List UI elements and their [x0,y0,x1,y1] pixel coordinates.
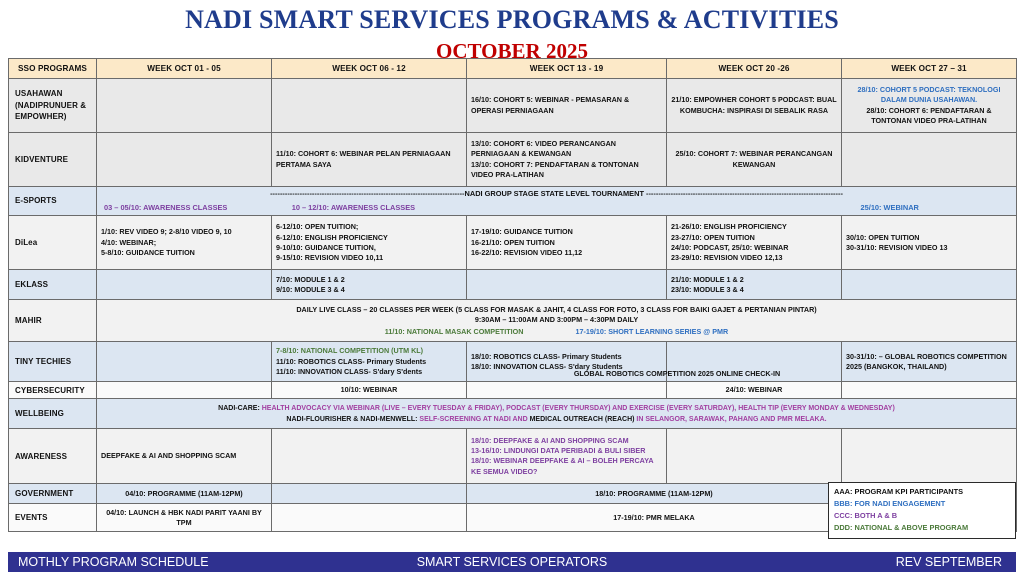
footer-bar: MOTHLY PROGRAM SCHEDULE SMART SERVICES O… [8,552,1016,572]
row-label-government: GOVERNMENT [9,484,97,504]
cell-dilea-w3: 17-19/10: GUIDANCE TUITION 16-21/10: OPE… [467,216,667,270]
cell-dilea-w2: 6-12/10: OPEN TUITION; 6-12/10: ENGLISH … [272,216,467,270]
footer-right-label: REV SEPTEMBER [896,555,1002,569]
cell-kidventure-w3: 13/10: COHORT 6: VIDEO PERANCANGAN PERNI… [467,133,667,187]
legend-text-bbb: FOR NADI ENGAGEMENT [852,499,945,508]
cell-eklass-w2: 7/10: MODULE 1 & 2 9/10: MODULE 3 & 4 [272,270,467,300]
legend-item-ccc: CCC: BOTH A & B [834,510,1010,522]
cell-tinytechies-w1 [97,342,272,382]
table-row-awareness: AWARENESS DEEPFAKE & AI AND SHOPPING SCA… [9,429,1017,484]
row-label-eklass: EKLASS [9,270,97,300]
legend-box: AAA: PROGRAM KPI PARTICIPANTS BBB: FOR N… [828,482,1016,539]
cell-eklass-w3 [467,270,667,300]
cell-usahawan-w2 [272,79,467,133]
cell-dilea-w4: 21-26/10: ENGLISH PROFICIENCY 23-27/10: … [667,216,842,270]
cell-kidventure-w5 [842,133,1017,187]
legend-item-ddd: DDD: NATIONAL & ABOVE PROGRAM [834,522,1010,534]
column-header-week2: WEEK OCT 06 - 12 [272,59,467,79]
cell-kidventure-w3-line2: 13/10: COHORT 7: PENDAFTARAN & TONTONAN … [471,160,662,181]
esports-item-3: 25/10: WEBINAR [766,203,1013,214]
footer-left-label: MOTHLY PROGRAM SCHEDULE [18,555,209,569]
esports-tournament-banner: ----------------------------------------… [100,189,1013,200]
cell-tinytechies-w2: 7-8/10: NATIONAL COMPETITION (UTM KL) 11… [272,342,467,382]
table-row-kidventure: KIDVENTURE 11/10: COHORT 6: WEBINAR PELA… [9,133,1017,187]
row-label-dilea: DiLea [9,216,97,270]
awareness-w3-line2: 13-16/10: LINDUNGI DATA PERIBADI & BULI … [471,446,662,456]
wellbeing-nadicare-label: NADI-CARE: [218,405,260,412]
mahir-masak-competition: 11/10: NATIONAL MASAK COMPETITION [385,327,524,337]
wellbeing-line-2: NADI-FLOURISHER & NADI-MENWELL: SELF-SCR… [101,414,1012,425]
header-row: SSO PROGRAMS WEEK OCT 01 - 05 WEEK OCT 0… [9,59,1017,79]
mahir-line-3: 11/10: NATIONAL MASAK COMPETITION 17-19/… [101,327,1012,337]
legend-code-ccc: CCC: [834,511,852,520]
row-label-tiny-techies: TINY TECHIES [9,342,97,382]
tinytechies-global-checkin: GLOBAL ROBOTICS COMPETITION 2025 ONLINE … [512,369,842,379]
wellbeing-locations-text: IN SELANGOR, SARAWAK, PAHANG AND PMR MEL… [634,416,826,423]
cell-events-w2 [272,504,467,532]
column-header-programs: SSO PROGRAMS [9,59,97,79]
tinytechies-w2-line1: 7-8/10: NATIONAL COMPETITION (UTM KL) [276,346,462,356]
tinytechies-w2-line2: 11/10: ROBOTICS CLASS- Primary Students [276,357,462,367]
legend-code-bbb: BBB: [834,499,852,508]
table-row-wellbeing: WELLBEING NADI-CARE: HEALTH ADVOCACY VIA… [9,399,1017,429]
legend-text-aaa: PROGRAM KPI PARTICIPANTS [852,487,963,496]
cell-government-w1: 04/10: PROGRAMME (11AM-12PM) [97,484,272,504]
cell-kidventure-w4: 25/10: COHORT 7: WEBINAR PERANCANGAN KEW… [667,133,842,187]
row-label-esports: E-SPORTS [9,187,97,216]
cell-awareness-w1: DEEPFAKE & AI AND SHOPPING SCAM [97,429,272,484]
cell-usahawan-w4: 21/10: EMPOWHER COHORT 5 PODCAST: BUAL K… [667,79,842,133]
cell-usahawan-w1 [97,79,272,133]
wellbeing-outreach-label: MEDICAL OUTREACH (REACH) [530,416,635,423]
page-title: NADI SMART SERVICES PROGRAMS & ACTIVITIE… [0,6,1024,35]
table-row-eklass: EKLASS 7/10: MODULE 1 & 2 9/10: MODULE 3… [9,270,1017,300]
tinytechies-w3-line1: 18/10: ROBOTICS CLASS- Primary Students [471,352,662,362]
wellbeing-selfscreening-text: SELF-SCREENING AT NADI AND [417,416,529,423]
cell-wellbeing-span: NADI-CARE: HEALTH ADVOCACY VIA WEBINAR (… [97,399,1017,429]
table-row-esports: E-SPORTS -------------------------------… [9,187,1017,216]
schedule-table: SSO PROGRAMS WEEK OCT 01 - 05 WEEK OCT 0… [8,58,1017,532]
legend-item-aaa: AAA: PROGRAM KPI PARTICIPANTS [834,486,1010,498]
table-body: USAHAWAN (NADIPRUNUER & EMPOWHER) 16/10:… [9,79,1017,532]
cell-cyber-w3 [467,382,667,399]
esports-item-1: 03 – 05/10: AWARENESS CLASSES [100,203,292,214]
cell-esports-span: ----------------------------------------… [97,187,1017,216]
cell-kidventure-w3-line1: 13/10: COHORT 6: VIDEO PERANCANGAN PERNI… [471,139,662,160]
mahir-short-learning-series: 17-19/10: SHORT LEARNING SERIES @ PMR [575,327,728,337]
cell-usahawan-w5: 28/10: COHORT 5 PODCAST: TEKNOLOGI DALAM… [842,79,1017,133]
mahir-line-2: 9:30AM – 11:00AM AND 3:00PM – 4:30PM DAI… [101,315,1012,325]
row-label-wellbeing: WELLBEING [9,399,97,429]
cell-dilea-w5: 30/10: OPEN TUITION 30-31/10: REVISION V… [842,216,1017,270]
cell-cyber-w2: 10/10: WEBINAR [272,382,467,399]
cell-events-w1: 04/10: LAUNCH & HBK NADI PARIT YAANI BY … [97,504,272,532]
awareness-w3-line3: 18/10: WEBINAR DEEPFAKE & AI – BOLEH PER… [471,456,662,477]
table-row-tiny-techies: TINY TECHIES 7-8/10: NATIONAL COMPETITIO… [9,342,1017,382]
cell-tinytechies-w5: 30-31/10: – GLOBAL ROBOTICS COMPETITION … [842,342,1017,382]
cell-awareness-w2 [272,429,467,484]
cell-kidventure-w1 [97,133,272,187]
column-header-week1: WEEK OCT 01 - 05 [97,59,272,79]
schedule-page: NADI SMART SERVICES PROGRAMS & ACTIVITIE… [0,0,1024,576]
row-label-awareness: AWARENESS [9,429,97,484]
cell-cyber-w5 [842,382,1017,399]
table-header: SSO PROGRAMS WEEK OCT 01 - 05 WEEK OCT 0… [9,59,1017,79]
cell-cyber-w4: 24/10: WEBINAR [667,382,842,399]
cell-eklass-w1 [97,270,272,300]
cell-usahawan-w3: 16/10: COHORT 5: WEBINAR - PEMASARAN & O… [467,79,667,133]
cell-tinytechies-w3: 18/10: ROBOTICS CLASS- Primary Students … [467,342,667,382]
esports-item-2: 10 – 12/10: AWARENESS CLASSES [292,203,520,214]
table-row-cybersecurity: CYBERSECURITY 10/10: WEBINAR 24/10: WEBI… [9,382,1017,399]
cell-eklass-w4: 21/10: MODULE 1 & 2 23/10: MODULE 3 & 4 [667,270,842,300]
cell-government-w2 [272,484,467,504]
row-label-cybersecurity: CYBERSECURITY [9,382,97,399]
column-header-week5: WEEK OCT 27 – 31 [842,59,1017,79]
cell-kidventure-w2: 11/10: COHORT 6: WEBINAR PELAN PERNIAGAA… [272,133,467,187]
wellbeing-line-1: NADI-CARE: HEALTH ADVOCACY VIA WEBINAR (… [101,403,1012,414]
esports-items: 03 – 05/10: AWARENESS CLASSES 10 – 12/10… [100,203,1013,214]
table-row-mahir: MAHIR DAILY LIVE CLASS – 20 CLASSES PER … [9,300,1017,342]
wellbeing-nadicare-text: HEALTH ADVOCACY VIA WEBINAR (LIVE – EVER… [260,405,895,412]
cell-awareness-w5 [842,429,1017,484]
row-label-mahir: MAHIR [9,300,97,342]
row-label-events: EVENTS [9,504,97,532]
cell-events-w34: 17-19/10: PMR MELAKA [467,504,842,532]
legend-code-ddd: DDD: [834,523,852,532]
cell-eklass-w5 [842,270,1017,300]
esports-spacer [520,203,767,214]
table-row-dilea: DiLea 1/10: REV VIDEO 9; 2-8/10 VIDEO 9,… [9,216,1017,270]
cell-mahir-span: DAILY LIVE CLASS – 20 CLASSES PER WEEK (… [97,300,1017,342]
cell-dilea-w1: 1/10: REV VIDEO 9; 2-8/10 VIDEO 9, 10 4/… [97,216,272,270]
column-header-week4: WEEK OCT 20 -26 [667,59,842,79]
awareness-w3-line1: 18/10: DEEPFAKE & AI AND SHOPPING SCAM [471,436,662,446]
cell-cyber-w1 [97,382,272,399]
cell-government-w34: 18/10: PROGRAMME (11AM-12PM) [467,484,842,504]
cell-awareness-w3: 18/10: DEEPFAKE & AI AND SHOPPING SCAM 1… [467,429,667,484]
cell-usahawan-w5-line2: 28/10: COHORT 6: PENDAFTARAN & TONTONAN … [846,106,1012,127]
cell-usahawan-w5-line1: 28/10: COHORT 5 PODCAST: TEKNOLOGI DALAM… [846,85,1012,106]
legend-item-bbb: BBB: FOR NADI ENGAGEMENT [834,498,1010,510]
wellbeing-flourisher-label: NADI-FLOURISHER & NADI-MENWELL: [286,416,417,423]
legend-text-ddd: NATIONAL & ABOVE PROGRAM [852,523,968,532]
tinytechies-w2-line3: 11/10: INNOVATION CLASS- S'dary S'dents [276,367,462,377]
cell-awareness-w4 [667,429,842,484]
legend-code-aaa: AAA: [834,487,852,496]
title-block: NADI SMART SERVICES PROGRAMS & ACTIVITIE… [0,0,1024,64]
table-row-usahawan: USAHAWAN (NADIPRUNUER & EMPOWHER) 16/10:… [9,79,1017,133]
mahir-line-1: DAILY LIVE CLASS – 20 CLASSES PER WEEK (… [101,305,1012,315]
column-header-week3: WEEK OCT 13 - 19 [467,59,667,79]
legend-text-ccc: BOTH A & B [852,511,897,520]
row-label-kidventure: KIDVENTURE [9,133,97,187]
row-label-usahawan: USAHAWAN (NADIPRUNUER & EMPOWHER) [9,79,97,133]
